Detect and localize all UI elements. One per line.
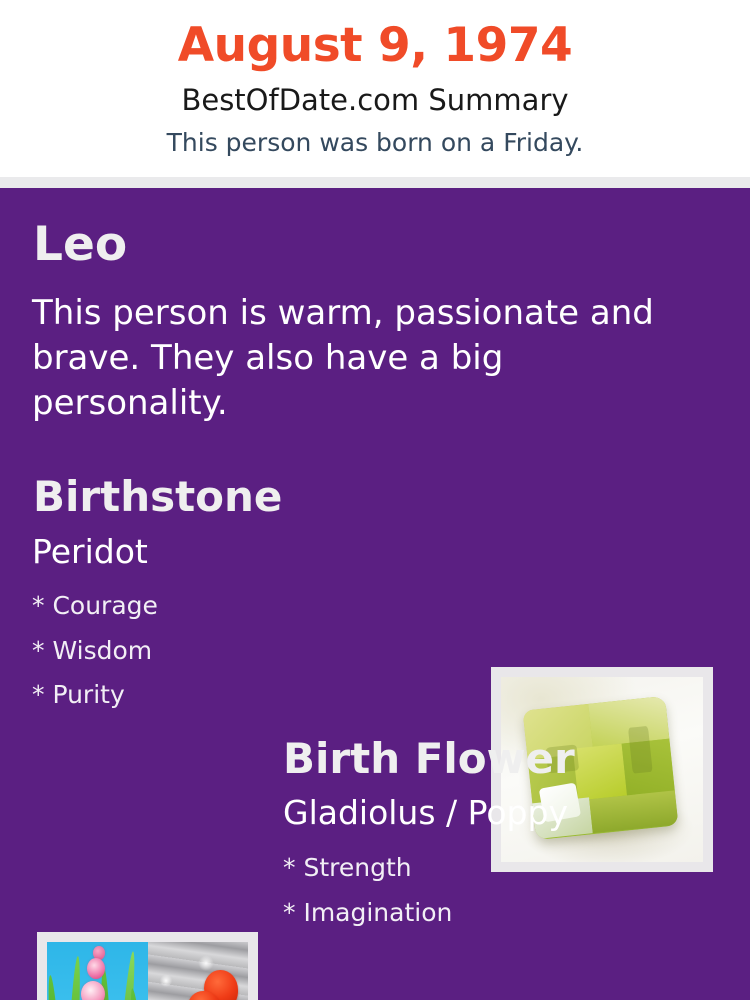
day-of-week-note: This person was born on a Friday.: [0, 129, 750, 157]
birth-flower-heading: Birth Flower: [283, 738, 575, 780]
site-name: BestOfDate.com Summary: [0, 85, 750, 117]
list-item: * Purity: [32, 673, 452, 718]
birth-flower-name: Gladiolus / Poppy: [283, 796, 568, 829]
leaf-shape: [65, 956, 83, 1000]
summary-card: August 9, 1974 BestOfDate.com Summary Th…: [0, 0, 750, 1000]
zodiac-sign-title: Leo: [33, 221, 127, 268]
list-item: * Strength: [283, 846, 703, 891]
page-title: August 9, 1974: [0, 22, 750, 69]
gladiolus-photo-half: [47, 942, 148, 1000]
list-item: * Imagination: [283, 891, 703, 936]
poppy-photo-half: [148, 942, 249, 1000]
gladiolus-and-poppy-photo: [47, 942, 248, 1000]
birth-flower-image-frame: [37, 932, 258, 1000]
gem-facet: [573, 743, 627, 800]
list-item: * Courage: [32, 584, 452, 629]
header-divider: [0, 177, 750, 188]
birthstone-heading: Birthstone: [33, 476, 282, 518]
birth-flower-trait-list: * Strength * Imagination: [283, 846, 703, 935]
details-panel: Leo This person is warm, passionate and …: [0, 188, 750, 1000]
leaf-shape: [128, 988, 147, 1000]
birthstone-name: Peridot: [32, 535, 148, 568]
zodiac-description: This person is warm, passionate and brav…: [32, 291, 682, 427]
leaf-shape: [47, 975, 65, 1000]
list-item: * Wisdom: [32, 629, 452, 674]
birthstone-trait-list: * Courage * Wisdom * Purity: [32, 584, 452, 718]
card-header: August 9, 1974 BestOfDate.com Summary Th…: [0, 0, 750, 177]
